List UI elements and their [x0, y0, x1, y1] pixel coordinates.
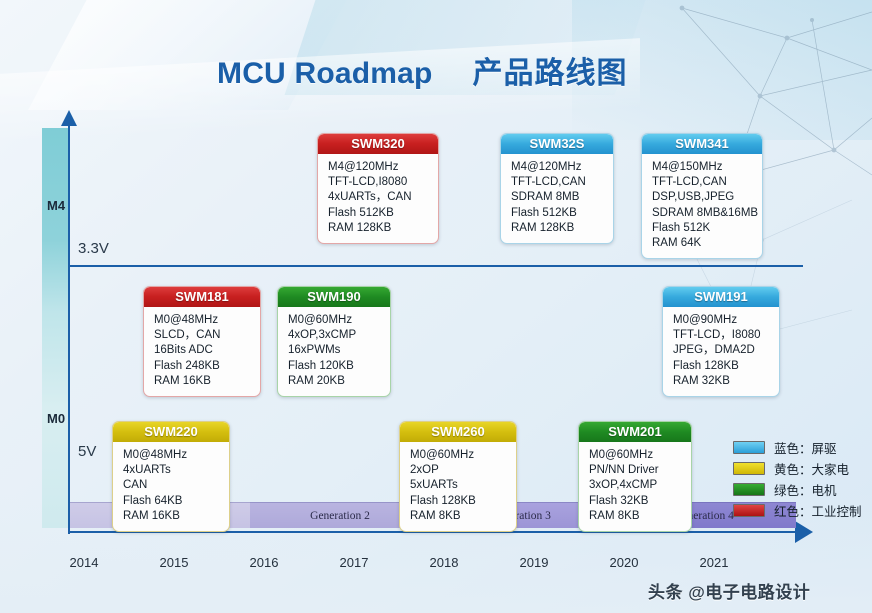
spec-line: CAN [123, 478, 229, 493]
title-english: MCU Roadmap [217, 57, 433, 91]
spec-line: Flash 512KB [511, 206, 613, 221]
product-card-title: SWM32S [501, 134, 613, 154]
product-card-swm181[interactable]: SWM181M0@48MHzSLCD，CAN16Bits ADCFlash 24… [143, 286, 261, 397]
spec-line: Flash 64KB [123, 494, 229, 509]
spec-line: PN/NN Driver [589, 463, 691, 478]
spec-line: TFT-LCD，I8080 [673, 328, 779, 343]
product-card-swm260[interactable]: SWM260M0@60MHz2xOP5xUARTsFlash 128KBRAM … [399, 421, 517, 532]
spec-line: RAM 16KB [123, 509, 229, 524]
voltage-divider-line [69, 265, 803, 267]
page-title: MCU Roadmap 产品路线图 [217, 48, 628, 92]
product-card-specs: M4@150MHzTFT-LCD,CANDSP,USB,JPEGSDRAM 8M… [642, 154, 762, 258]
product-card-swm220[interactable]: SWM220M0@48MHz4xUARTsCANFlash 64KBRAM 16… [112, 421, 230, 532]
year-label-2019: 2019 [506, 555, 562, 570]
spec-line: SDRAM 8MB&16MB [652, 206, 762, 221]
spec-line: RAM 128KB [328, 221, 438, 236]
spec-line: TFT-LCD,CAN [511, 175, 613, 190]
y-tick-m4: M4 [47, 198, 65, 213]
year-label-2014: 2014 [56, 555, 112, 570]
product-card-swm341[interactable]: SWM341M4@150MHzTFT-LCD,CANDSP,USB,JPEGSD… [641, 133, 763, 259]
legend-label: 蓝色：屏驱 [774, 438, 837, 457]
spec-line: 4xOP,3xCMP [288, 328, 390, 343]
spec-line: JPEG，DMA2D [673, 343, 779, 358]
year-label-2017: 2017 [326, 555, 382, 570]
spec-line: RAM 8KB [589, 509, 691, 524]
x-axis-arrow-icon [795, 521, 813, 543]
product-card-specs: M0@48MHz4xUARTsCANFlash 64KBRAM 16KB [113, 442, 229, 531]
year-label-2020: 2020 [596, 555, 652, 570]
year-label-2016: 2016 [236, 555, 292, 570]
spec-line: Flash 248KB [154, 359, 260, 374]
spec-line: 3xOP,4xCMP [589, 478, 691, 493]
spec-line: TFT-LCD,I8080 [328, 175, 438, 190]
y-tick-m0: M0 [47, 411, 65, 426]
legend: 蓝色：屏驱黄色：大家电绿色：电机红色：工业控制 [733, 438, 862, 522]
legend-swatch-yellow [733, 462, 765, 475]
product-card-specs: M4@120MHzTFT-LCD,CANSDRAM 8MBFlash 512KB… [501, 154, 613, 243]
product-card-title: SWM181 [144, 287, 260, 307]
legend-swatch-green [733, 483, 765, 496]
spec-line: M0@90MHz [673, 313, 779, 328]
spec-line: M0@60MHz [589, 448, 691, 463]
product-card-specs: M0@48MHzSLCD，CAN16Bits ADCFlash 248KBRAM… [144, 307, 260, 396]
spec-line: M4@120MHz [511, 160, 613, 175]
spec-line: RAM 8KB [410, 509, 516, 524]
product-card-swm191[interactable]: SWM191M0@90MHzTFT-LCD，I8080JPEG，DMA2DFla… [662, 286, 780, 397]
watermark: 头条 @电子电路设计 [648, 578, 810, 603]
year-axis-labels: 20142015201620172018201920202021 [70, 555, 800, 573]
product-card-specs: M0@90MHzTFT-LCD，I8080JPEG，DMA2DFlash 128… [663, 307, 779, 396]
legend-swatch-blue [733, 441, 765, 454]
spec-line: 4xUARTs，CAN [328, 190, 438, 205]
voltage-label-5v: 5V [78, 443, 96, 460]
legend-label: 绿色：电机 [774, 480, 837, 499]
spec-line: 2xOP [410, 463, 516, 478]
spec-line: 16Bits ADC [154, 343, 260, 358]
roadmap-canvas: MCU Roadmap 产品路线图 M4 M0 3.3V 5V Generati… [0, 0, 872, 613]
spec-line: TFT-LCD,CAN [652, 175, 762, 190]
product-card-specs: M4@120MHzTFT-LCD,I80804xUARTs，CANFlash 5… [318, 154, 438, 243]
title-chinese: 产品路线图 [473, 48, 628, 92]
product-card-swm201[interactable]: SWM201M0@60MHzPN/NN Driver3xOP,4xCMPFlas… [578, 421, 692, 532]
product-card-title: SWM220 [113, 422, 229, 442]
spec-line: M0@48MHz [154, 313, 260, 328]
spec-line: Flash 120KB [288, 359, 390, 374]
legend-row-red: 红色：工业控制 [733, 501, 862, 519]
legend-label: 红色：工业控制 [774, 501, 862, 520]
spec-line: SLCD，CAN [154, 328, 260, 343]
spec-line: M0@48MHz [123, 448, 229, 463]
product-card-specs: M0@60MHzPN/NN Driver3xOP,4xCMPFlash 32KB… [579, 442, 691, 531]
spec-line: DSP,USB,JPEG [652, 190, 762, 205]
spec-line: M4@120MHz [328, 160, 438, 175]
product-card-title: SWM260 [400, 422, 516, 442]
year-label-2018: 2018 [416, 555, 472, 570]
spec-line: Flash 512K [652, 221, 762, 236]
product-card-title: SWM190 [278, 287, 390, 307]
year-label-2021: 2021 [686, 555, 742, 570]
spec-line: Flash 512KB [328, 206, 438, 221]
spec-line: RAM 64K [652, 236, 762, 251]
year-label-2015: 2015 [146, 555, 202, 570]
spec-line: Flash 128KB [673, 359, 779, 374]
spec-line: Flash 128KB [410, 494, 516, 509]
product-card-title: SWM191 [663, 287, 779, 307]
legend-swatch-red [733, 504, 765, 517]
product-card-swm320[interactable]: SWM320M4@120MHzTFT-LCD,I80804xUARTs，CANF… [317, 133, 439, 244]
spec-line: RAM 16KB [154, 374, 260, 389]
y-axis-arrow-icon [61, 110, 77, 126]
legend-row-yellow: 黄色：大家电 [733, 459, 862, 477]
spec-line: RAM 32KB [673, 374, 779, 389]
spec-line: M0@60MHz [288, 313, 390, 328]
product-card-title: SWM341 [642, 134, 762, 154]
spec-line: RAM 20KB [288, 374, 390, 389]
spec-line: SDRAM 8MB [511, 190, 613, 205]
legend-row-green: 绿色：电机 [733, 480, 862, 498]
legend-label: 黄色：大家电 [774, 459, 849, 478]
spec-line: RAM 128KB [511, 221, 613, 236]
product-card-title: SWM320 [318, 134, 438, 154]
spec-line: M4@150MHz [652, 160, 762, 175]
spec-line: 5xUARTs [410, 478, 516, 493]
legend-row-blue: 蓝色：屏驱 [733, 438, 862, 456]
spec-line: Flash 32KB [589, 494, 691, 509]
product-card-specs: M0@60MHz2xOP5xUARTsFlash 128KBRAM 8KB [400, 442, 516, 531]
product-card-title: SWM201 [579, 422, 691, 442]
y-axis-gradient-band [42, 128, 70, 528]
y-axis-line [68, 122, 70, 534]
product-card-swm190[interactable]: SWM190M0@60MHz4xOP,3xCMP16xPWMsFlash 120… [277, 286, 391, 397]
spec-line: 16xPWMs [288, 343, 390, 358]
product-card-specs: M0@60MHz4xOP,3xCMP16xPWMsFlash 120KBRAM … [278, 307, 390, 396]
spec-line: M0@60MHz [410, 448, 516, 463]
product-card-swm32s[interactable]: SWM32SM4@120MHzTFT-LCD,CANSDRAM 8MBFlash… [500, 133, 614, 244]
spec-line: 4xUARTs [123, 463, 229, 478]
voltage-label-33v: 3.3V [78, 240, 109, 257]
